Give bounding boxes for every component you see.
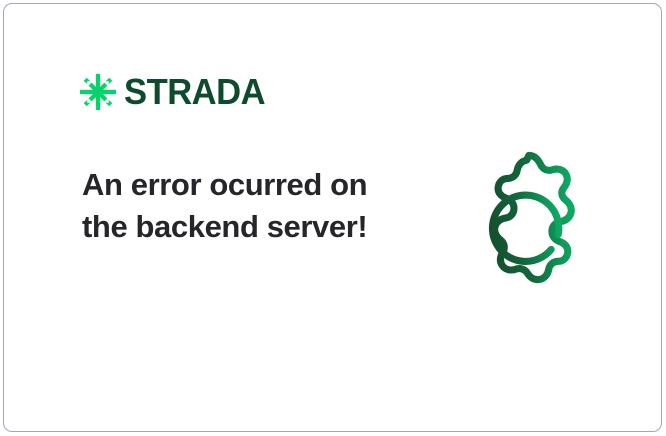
brand-lockup: STRADA: [80, 74, 271, 110]
gear-icon: [450, 142, 608, 308]
brand-wordmark: STRADA: [124, 74, 265, 110]
strada-asterisk-icon: [80, 74, 116, 110]
error-headline: An error ocurred on the backend server!: [82, 164, 382, 248]
error-card: STRADA An error ocurred on the backend s…: [3, 3, 662, 432]
